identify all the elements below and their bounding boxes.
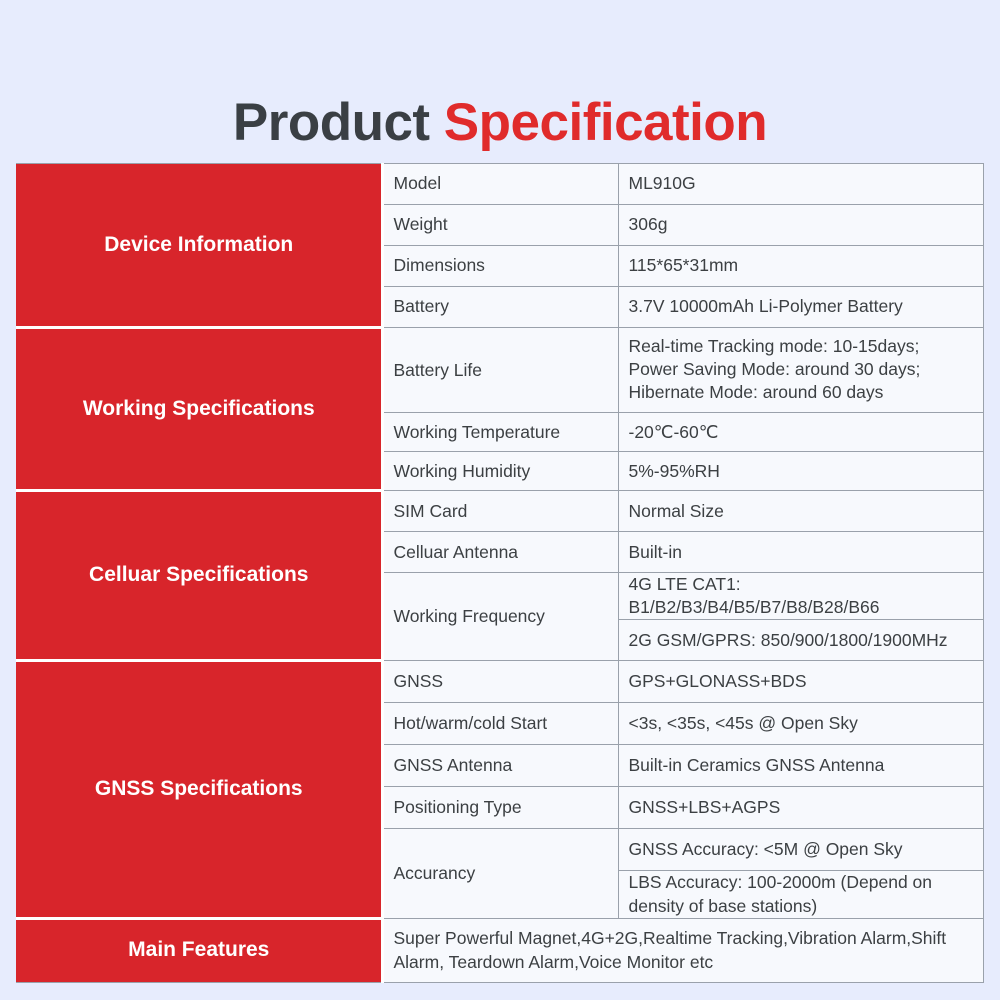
spec-value: GNSS+LBS+AGPS: [618, 787, 984, 829]
section-label-gnss-specifications: GNSS Specifications: [17, 661, 383, 918]
page-title-accent: Specification: [444, 93, 767, 152]
spec-key: Working Temperature: [382, 413, 618, 452]
spec-value: Built-in Ceramics GNSS Antenna: [618, 745, 984, 787]
spec-value: 2G GSM/GPRS: 850/900/1800/1900MHz: [618, 620, 984, 661]
page-title: Product Specification: [0, 94, 1000, 152]
section-label-device-information: Device Information: [17, 164, 383, 328]
spec-key: Weight: [382, 205, 618, 246]
spec-key: SIM Card: [382, 491, 618, 532]
spec-value: Real-time Tracking mode: 10-15days; Powe…: [618, 328, 984, 413]
spec-key: Battery: [382, 287, 618, 328]
spec-value: Normal Size: [618, 491, 984, 532]
table-row: GNSS Specifications GNSS GPS+GLONASS+BDS: [17, 661, 984, 703]
table-row: Device Information Model ML910G: [17, 164, 984, 205]
specification-table: Device Information Model ML910G Weight 3…: [16, 163, 984, 983]
section-label-celluar-specifications: Celluar Specifications: [17, 491, 383, 661]
spec-value: -20℃-60℃: [618, 413, 984, 452]
spec-key: Hot/warm/cold Start: [382, 703, 618, 745]
spec-value: 3.7V 10000mAh Li-Polymer Battery: [618, 287, 984, 328]
spec-key: Celluar Antenna: [382, 532, 618, 573]
table-row-main-features: Main Features Super Powerful Magnet,4G+2…: [17, 918, 984, 982]
spec-value-line: Power Saving Mode: around 30 days;: [629, 358, 974, 381]
specification-table-body: Device Information Model ML910G Weight 3…: [17, 164, 984, 983]
main-features-value: Super Powerful Magnet,4G+2G,Realtime Tra…: [382, 918, 984, 982]
spec-value: 306g: [618, 205, 984, 246]
spec-value: GPS+GLONASS+BDS: [618, 661, 984, 703]
spec-key: Model: [382, 164, 618, 205]
spec-value: 5%-95%RH: [618, 452, 984, 491]
product-specification-page: Product Specification Device Information…: [0, 0, 1000, 1000]
main-features-line: Teardown Alarm,Voice Monitor etc: [449, 952, 714, 972]
spec-value: GNSS Accuracy: <5M @ Open Sky: [618, 829, 984, 871]
spec-value: 4G LTE CAT1: B1/B2/B3/B4/B5/B7/B8/B28/B6…: [618, 573, 984, 620]
spec-key: Positioning Type: [382, 787, 618, 829]
page-title-primary: Product: [233, 93, 444, 152]
spec-value-line: Hibernate Mode: around 60 days: [629, 381, 974, 404]
spec-key: Working Frequency: [382, 573, 618, 661]
spec-key: Dimensions: [382, 246, 618, 287]
section-label-working-specifications: Working Specifications: [17, 328, 383, 491]
table-row: Celluar Specifications SIM Card Normal S…: [17, 491, 984, 532]
spec-value: Built-in: [618, 532, 984, 573]
spec-value: 115*65*31mm: [618, 246, 984, 287]
section-label-main-features: Main Features: [17, 918, 383, 982]
table-row: Working Specifications Battery Life Real…: [17, 328, 984, 413]
spec-key: Accurancy: [382, 829, 618, 918]
spec-value: ML910G: [618, 164, 984, 205]
spec-key: GNSS: [382, 661, 618, 703]
spec-value-line: Real-time Tracking mode: 10-15days;: [629, 335, 974, 358]
spec-value: LBS Accuracy: 100-2000m (Depend on densi…: [618, 871, 984, 918]
spec-value: <3s, <35s, <45s @ Open Sky: [618, 703, 984, 745]
spec-key: Working Humidity: [382, 452, 618, 491]
spec-key: GNSS Antenna: [382, 745, 618, 787]
spec-key: Battery Life: [382, 328, 618, 413]
